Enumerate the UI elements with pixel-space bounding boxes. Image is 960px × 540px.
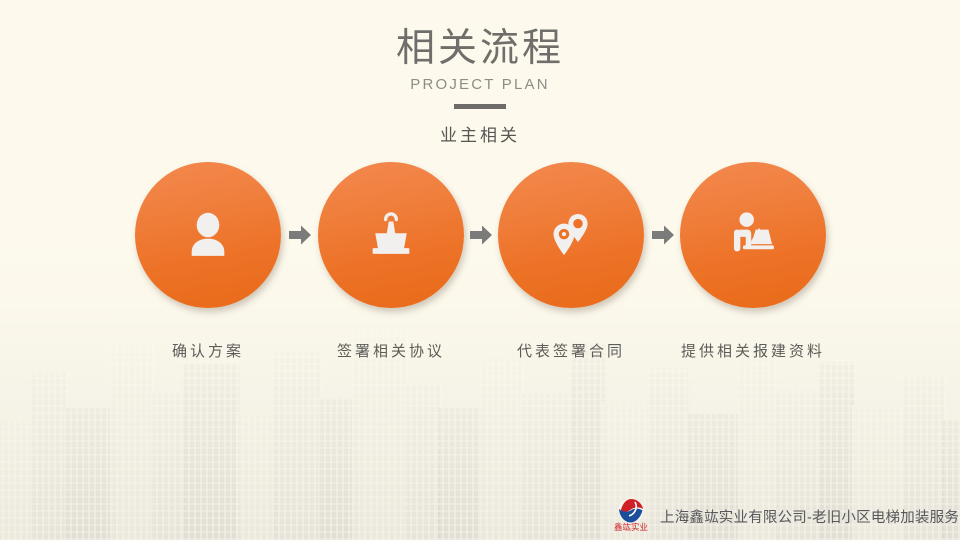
flow-step-2[interactable]: 签署相关协议 <box>318 162 464 361</box>
arrow-right-icon <box>468 222 494 248</box>
title-divider <box>454 104 506 109</box>
map-pins-icon <box>543 207 599 263</box>
flow-step-3-label: 代表签署合同 <box>498 340 644 361</box>
footer-company-text: 上海鑫竑实业有限公司-老旧小区电梯加装服务中心 <box>660 506 960 527</box>
slide-canvas: 相关流程 PROJECT PLAN 业主相关 确认方案 <box>0 0 960 540</box>
flow-step-4-circle[interactable] <box>680 162 826 308</box>
slide-header: 相关流程 PROJECT PLAN 业主相关 <box>0 26 960 147</box>
flow-step-2-label: 签署相关协议 <box>318 340 464 361</box>
flow-connector-3 <box>650 222 676 248</box>
user-icon <box>179 206 237 264</box>
company-logo-icon: 鑫竑实业 <box>608 497 654 535</box>
flow-step-2-circle[interactable] <box>318 162 464 308</box>
flow-step-4[interactable]: 提供相关报建资料 <box>680 162 826 361</box>
xinhong-shiye-logo: 鑫竑实业 <box>608 497 654 535</box>
flow-connector-1 <box>287 222 313 248</box>
person-laptop-icon <box>724 206 782 264</box>
arrow-right-icon <box>287 222 313 248</box>
section-subtitle: 业主相关 <box>0 125 960 147</box>
flow-step-3-circle[interactable] <box>498 162 644 308</box>
page-subtitle-en: PROJECT PLAN <box>0 74 960 96</box>
flow-connector-2 <box>468 222 494 248</box>
flow-step-1-label: 确认方案 <box>135 340 281 361</box>
page-title: 相关流程 <box>0 26 960 72</box>
flow-step-3[interactable]: 代表签署合同 <box>498 162 644 361</box>
binder-clip-icon <box>363 207 419 263</box>
svg-text:鑫竑实业: 鑫竑实业 <box>614 522 648 532</box>
footer: 鑫竑实业 上海鑫竑实业有限公司-老旧小区电梯加装服务中心 <box>608 496 960 536</box>
flow-step-1[interactable]: 确认方案 <box>135 162 281 361</box>
flow-step-4-label: 提供相关报建资料 <box>680 340 826 361</box>
flow-step-1-circle[interactable] <box>135 162 281 308</box>
process-flow: 确认方案 签署相关协议 <box>0 162 960 382</box>
arrow-right-icon <box>650 222 676 248</box>
